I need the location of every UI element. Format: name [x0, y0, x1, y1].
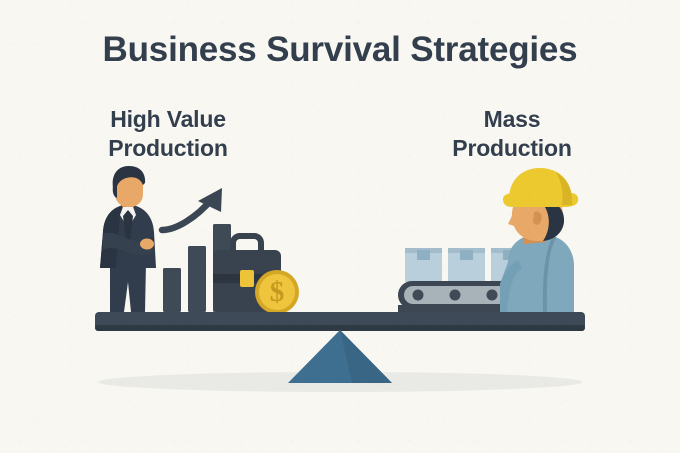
right-pan-label: Mass Production: [392, 105, 632, 164]
businessman-hair-side: [113, 186, 117, 198]
illustration-canvas: $: [0, 0, 680, 453]
bar-2: [188, 246, 206, 312]
briefcase-handle: [233, 236, 261, 252]
businessman-legs: [110, 262, 146, 312]
conveyor-roller: [413, 290, 424, 301]
conveyor-roller: [487, 290, 498, 301]
businessman-hand: [140, 239, 154, 250]
product-box: [448, 248, 485, 282]
product-box: [405, 248, 442, 282]
left-pan-label: High Value Production: [48, 105, 288, 164]
businessman-figure: [100, 166, 156, 312]
factory-worker-figure: [500, 168, 578, 312]
balance-beam-group: [95, 312, 585, 383]
briefcase-clasp: [240, 270, 254, 287]
dollar-coin-icon: $: [255, 270, 299, 314]
coin-dollar-glyph: $: [270, 276, 285, 308]
growth-arrow-icon: [162, 188, 222, 230]
page-title: Business Survival Strategies: [0, 32, 680, 69]
right-pan-group: [398, 168, 578, 313]
bar-1: [163, 268, 181, 312]
conveyor-roller: [450, 290, 461, 301]
hard-hat-icon: [503, 168, 578, 207]
left-pan-group: $: [100, 166, 299, 314]
